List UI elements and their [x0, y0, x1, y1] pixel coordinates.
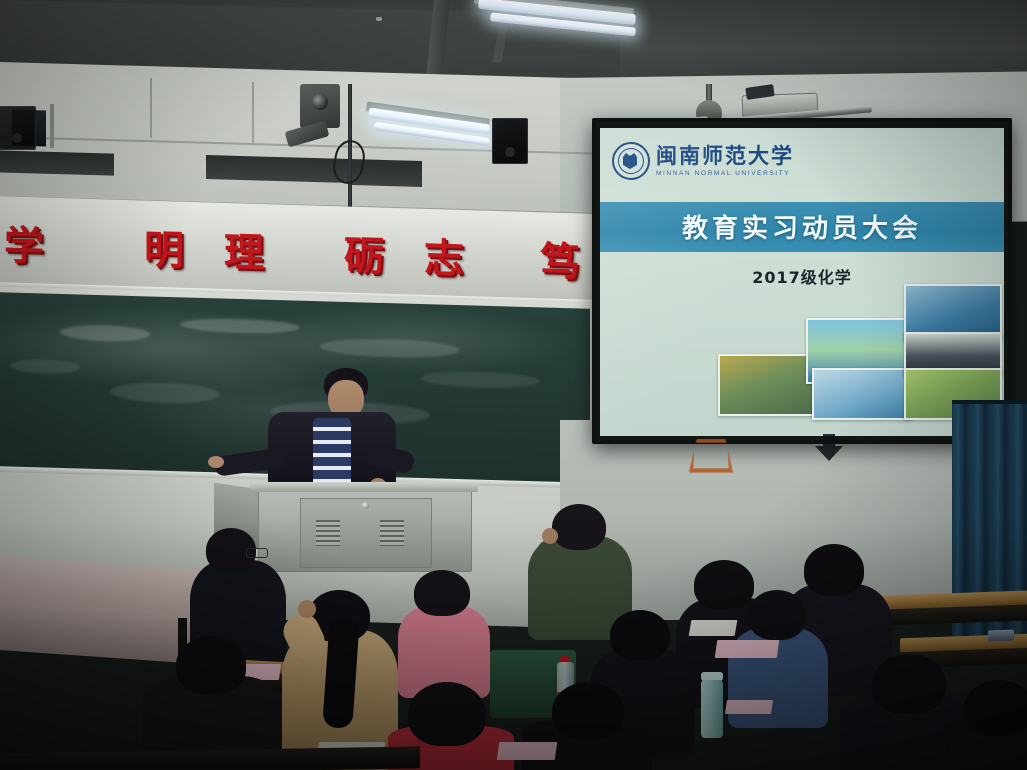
- thermos-bottle: [701, 680, 723, 738]
- ceiling-fixture-dots: [372, 17, 386, 21]
- motto-char: 砺: [344, 236, 384, 277]
- white-paper: [689, 620, 738, 636]
- podium-vent: [316, 520, 340, 546]
- pink-handout-paper: [725, 700, 773, 714]
- university-logo: 闽南师范大学 MINNAN NORMAL UNIVERSITY: [612, 142, 794, 180]
- university-seal-icon: [612, 142, 650, 180]
- collage-photo: [718, 354, 818, 416]
- university-name-cn: 闽南师范大学: [656, 146, 794, 167]
- wall-speaker: [0, 106, 36, 150]
- campus-photo-collage: [718, 284, 998, 414]
- mobile-phone: [988, 630, 1014, 642]
- pink-handout-paper: [497, 742, 558, 760]
- student-hand: [298, 600, 316, 618]
- student-hand: [542, 528, 558, 544]
- wall-recess-slot: [0, 150, 114, 175]
- wall-rod: [50, 104, 54, 148]
- eyeglasses-icon: [246, 548, 268, 558]
- presenter-hand-left: [208, 456, 224, 468]
- motto-char: 学: [4, 226, 44, 267]
- down-arrow-icon: [812, 434, 846, 462]
- motto-char: 笃: [540, 242, 580, 283]
- collage-photo: [812, 368, 912, 420]
- front-desk-rail: [0, 746, 420, 770]
- podium-lock-icon: [362, 502, 369, 509]
- podium-top: [250, 482, 478, 492]
- podium-vent: [380, 520, 404, 546]
- projection-screen: 闽南师范大学 MINNAN NORMAL UNIVERSITY 教育实习动员大会…: [600, 128, 1004, 436]
- wall-seam-vertical: [150, 78, 152, 138]
- window-curtain: [952, 404, 1027, 664]
- screen-bracket: [689, 439, 733, 473]
- motto-char: 志: [424, 239, 464, 280]
- spotlight-lens: [312, 94, 328, 110]
- university-name-en: MINNAN NORMAL UNIVERSITY: [656, 170, 794, 177]
- classroom-photo: 学 明 理 砺 志 笃 行 闽南师范大学 MINNAN NORMAL UNIVE…: [0, 0, 1027, 770]
- motto-char: 理: [224, 233, 264, 274]
- wall-seam-vertical: [252, 82, 254, 144]
- pink-handout-paper: [715, 640, 780, 658]
- motto-char: 明: [144, 230, 184, 271]
- slide-title: 教育实习动员大会: [600, 208, 1004, 245]
- wall-speaker: [492, 118, 528, 164]
- projection-screen-frame: 闽南师范大学 MINNAN NORMAL UNIVERSITY 教育实习动员大会…: [592, 118, 1012, 444]
